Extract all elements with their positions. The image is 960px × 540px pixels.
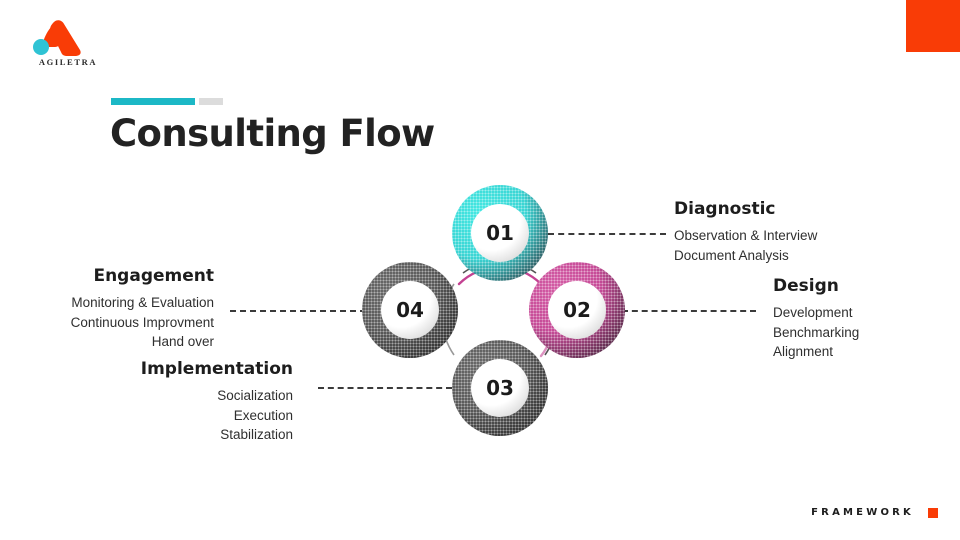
- cycle-node-01-label: 01: [486, 221, 514, 245]
- block-design-line-3: Alignment: [773, 342, 859, 362]
- block-diagnostic-line-2: Document Analysis: [674, 246, 817, 266]
- block-implementation-line-1: Socialization: [60, 386, 293, 406]
- title-accent-bars: [111, 98, 223, 105]
- block-diagnostic-heading: Diagnostic: [674, 200, 817, 219]
- brand-wordmark: AGILETRA: [22, 57, 114, 67]
- block-design-line-1: Development: [773, 303, 859, 323]
- block-engagement-heading: Engagement: [20, 267, 214, 286]
- block-implementation-line-3: Stabilization: [60, 425, 293, 445]
- accent-bar-secondary: [199, 98, 223, 105]
- cycle-node-02-label: 02: [563, 298, 591, 322]
- block-engagement-line-2: Continuous Improvment: [20, 313, 214, 333]
- block-diagnostic-line-1: Observation & Interview: [674, 226, 817, 246]
- footer-square-icon: [928, 508, 938, 518]
- connector-line-04: [230, 310, 366, 312]
- accent-bar-primary: [111, 98, 195, 105]
- slide-canvas: AGILETRA Consulting Flow: [0, 0, 960, 540]
- page-title: Consulting Flow: [110, 112, 435, 155]
- block-design: Design Development Benchmarking Alignmen…: [773, 277, 859, 362]
- footer-label: FRAMEWORK: [811, 507, 914, 518]
- corner-accent-block: [906, 0, 960, 52]
- block-engagement-line-3: Hand over: [20, 332, 214, 352]
- block-implementation: Implementation Socialization Execution S…: [60, 360, 293, 445]
- block-engagement-line-1: Monitoring & Evaluation: [20, 293, 214, 313]
- brand-logo: AGILETRA: [22, 20, 114, 72]
- agiletra-a-mark-icon: [30, 20, 84, 56]
- block-diagnostic: Diagnostic Observation & Interview Docum…: [674, 200, 817, 265]
- block-implementation-heading: Implementation: [60, 360, 293, 379]
- footer: FRAMEWORK: [811, 507, 938, 518]
- block-implementation-line-2: Execution: [60, 406, 293, 426]
- block-engagement: Engagement Monitoring & Evaluation Conti…: [20, 267, 214, 352]
- block-design-heading: Design: [773, 277, 859, 296]
- block-design-line-2: Benchmarking: [773, 323, 859, 343]
- cycle-diagram: 01 02 03 04: [355, 180, 645, 445]
- cycle-node-03-label: 03: [486, 376, 514, 400]
- cycle-node-04-label: 04: [396, 298, 424, 322]
